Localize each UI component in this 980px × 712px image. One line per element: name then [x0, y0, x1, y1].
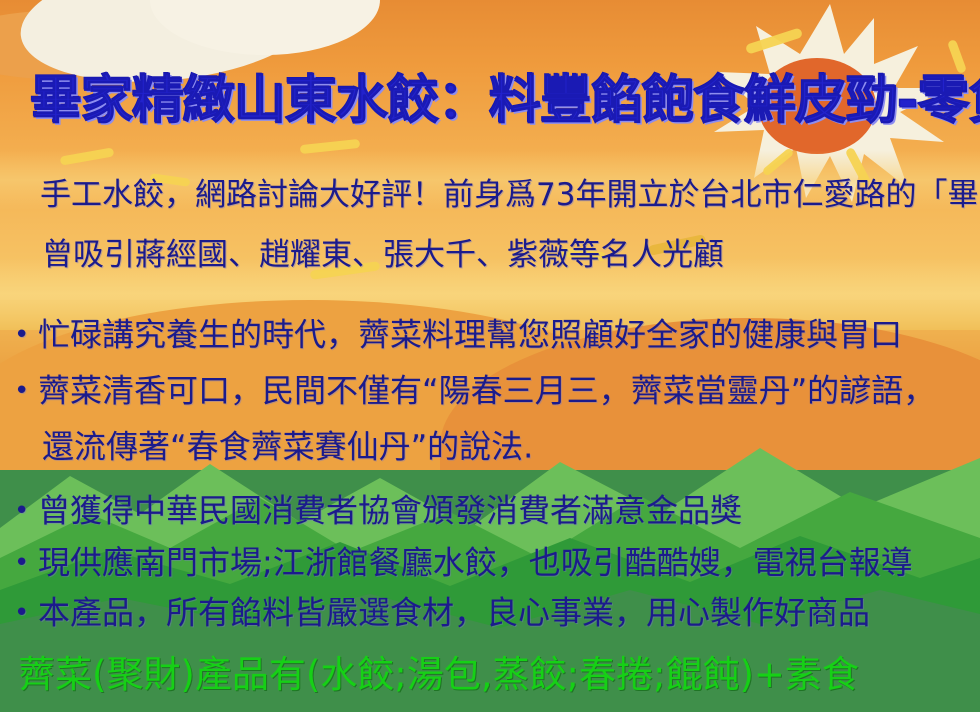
slide-canvas: 畢家精緻山東水餃：料豐餡飽食鮮皮勁-零負擔野菜餃 手工水餃，網路討論大好評！前身… — [0, 0, 980, 712]
bullet-text: 還流傳著“春食薺菜賽仙丹”的說法. — [42, 428, 533, 466]
bullet-marker: • — [14, 377, 38, 405]
bullet-text: 曾獲得中華民國消費者協會頒發消費者滿意金品獎 — [38, 492, 742, 530]
slide-content: 畢家精緻山東水餃：料豐餡飽食鮮皮勁-零負擔野菜餃 手工水餃，網路討論大好評！前身… — [0, 0, 980, 712]
bullet-item-4: •現供應南門市場;江浙館餐廳水餃，也吸引酷酷嫂，電視台報導 — [14, 544, 913, 580]
bullet-item-3: •曾獲得中華民國消費者協會頒發消費者滿意金品獎 — [14, 492, 742, 528]
bullet-text: 薺菜清香可口，民間不僅有“陽春三月三，薺菜當靈丹”的諺語， — [38, 372, 935, 410]
footer-product-list: 薺菜(聚財)產品有(水餃;湯包,蒸餃;春捲;餛飩)+素食 — [18, 644, 859, 698]
bullet-marker: • — [14, 599, 38, 627]
bullet-marker: • — [14, 549, 38, 577]
bullet-text: 忙碌講究養生的時代，薺菜料理幫您照顧好全家的健康與胃口 — [38, 316, 902, 354]
slide-title: 畢家精緻山東水餃：料豐餡飽食鮮皮勁-零負擔野菜餃 — [30, 58, 950, 133]
bullet-text: 現供應南門市場;江浙館餐廳水餃，也吸引酷酷嫂，電視台報導 — [38, 544, 913, 582]
bullet-marker: • — [14, 321, 38, 349]
bullet-item-5: •本產品，所有餡料皆嚴選食材，良心事業，用心製作好商品 — [14, 594, 870, 630]
bullet-item-2: •薺菜清香可口，民間不僅有“陽春三月三，薺菜當靈丹”的諺語， — [14, 372, 935, 408]
bullet-text: 本產品，所有餡料皆嚴選食材，良心事業，用心製作好商品 — [38, 594, 870, 632]
intro-line-2: 曾吸引蔣經國、趙耀東、張大千、紫薇等名人光顧 — [42, 238, 724, 272]
bullet-item-1: •忙碌講究養生的時代，薺菜料理幫您照顧好全家的健康與胃口 — [14, 316, 902, 352]
bullet-marker: • — [14, 497, 38, 525]
bullet-item-2-continuation: 還流傳著“春食薺菜賽仙丹”的說法. — [42, 428, 533, 464]
intro-line-1: 手工水餃，網路討論大好評！前身爲73年開立於台北市仁愛路的「畢家小館」 — [40, 178, 980, 212]
